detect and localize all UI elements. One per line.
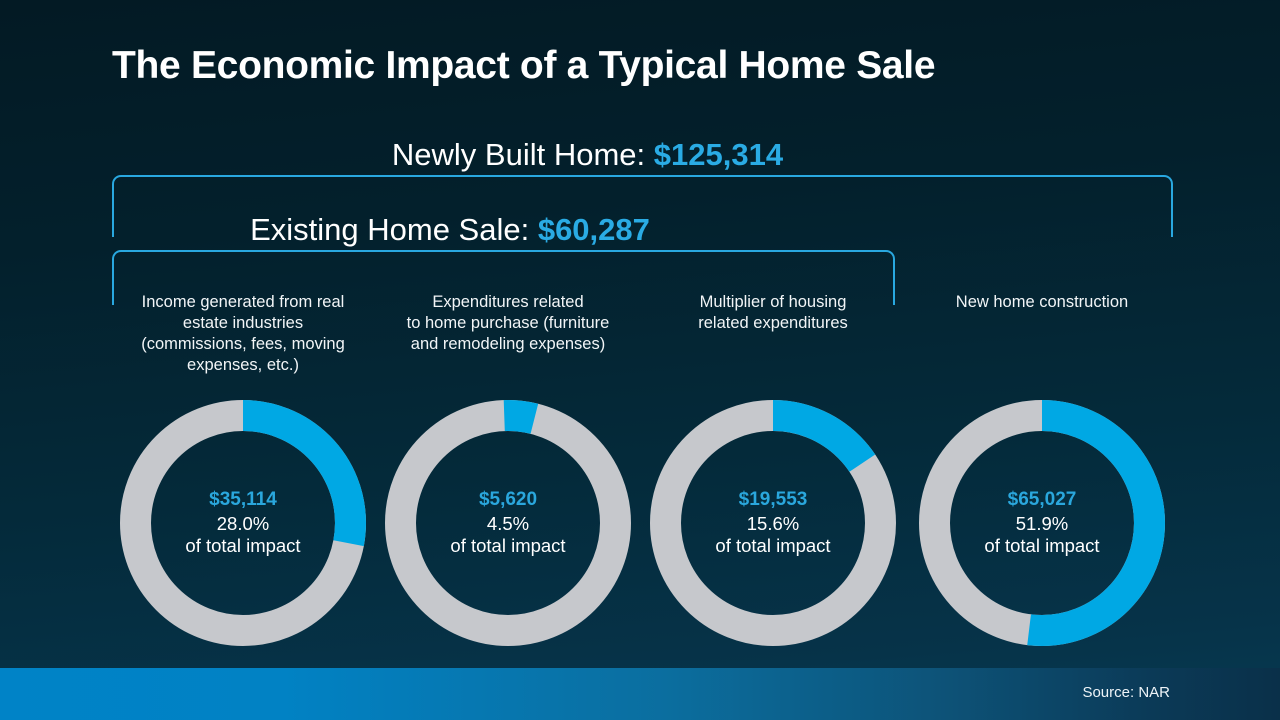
existing-home-sale-label: Existing Home Sale:: [250, 212, 538, 247]
donut-chart-income-real-estate: $35,11428.0%of total impact: [120, 400, 366, 646]
donut-chart-new-home-construction: $65,02751.9%of total impact: [919, 400, 1165, 646]
donut-sublabel: of total impact: [984, 535, 1099, 557]
donut-amount: $19,553: [739, 489, 808, 511]
column-label-multiplier-housing: Multiplier of housingrelated expenditure…: [648, 292, 898, 334]
donut-percent: 51.9%: [1016, 513, 1068, 535]
donut-label-0: Income generated from realestate industr…: [118, 292, 368, 376]
label-line: estate industries: [183, 314, 303, 332]
donut-label-2: Multiplier of housingrelated expenditure…: [648, 292, 898, 334]
label-line: expenses, etc.): [187, 356, 299, 374]
donut-sublabel: of total impact: [185, 535, 300, 557]
donut-chart-expenditures-home-purchase: $5,6204.5%of total impact: [385, 400, 631, 646]
infographic-slide: The Economic Impact of a Typical Home Sa…: [0, 0, 1280, 720]
label-line: to home purchase (furniture: [407, 314, 610, 332]
donut-center-labels-income-real-estate: $35,11428.0%of total impact: [120, 400, 366, 646]
donut-amount: $5,620: [479, 489, 537, 511]
donut-center-labels-expenditures-home-purchase: $5,6204.5%of total impact: [385, 400, 631, 646]
donut-percent: 4.5%: [487, 513, 529, 535]
donut-label-1: Expenditures relatedto home purchase (fu…: [383, 292, 633, 355]
label-line: related expenditures: [698, 314, 848, 332]
label-line: New home construction: [956, 293, 1128, 311]
existing-home-sale-header: Existing Home Sale: $60,287: [0, 212, 900, 248]
donut-chart-multiplier-housing: $19,55315.6%of total impact: [650, 400, 896, 646]
existing-home-sale-value: $60,287: [538, 212, 650, 247]
label-line: Multiplier of housing: [700, 293, 847, 311]
donut-label-3: New home construction: [917, 292, 1167, 313]
label-line: (commissions, fees, moving: [141, 335, 345, 353]
donut-amount: $65,027: [1008, 489, 1077, 511]
donut-amount: $35,114: [209, 489, 277, 511]
donut-sublabel: of total impact: [450, 535, 565, 557]
newly-built-home-label: Newly Built Home:: [392, 137, 654, 172]
donut-center-labels-new-home-construction: $65,02751.9%of total impact: [919, 400, 1165, 646]
footer-bar: Source: NAR: [0, 668, 1280, 720]
column-label-income-real-estate: Income generated from realestate industr…: [118, 292, 368, 376]
newly-built-home-header: Newly Built Home: $125,314: [0, 137, 1175, 173]
label-line: and remodeling expenses): [411, 335, 605, 353]
donut-percent: 28.0%: [217, 513, 269, 535]
newly-built-home-value: $125,314: [654, 137, 783, 172]
label-line: Income generated from real: [142, 293, 345, 311]
page-title: The Economic Impact of a Typical Home Sa…: [112, 44, 935, 88]
label-line: Expenditures related: [432, 293, 583, 311]
donut-percent: 15.6%: [747, 513, 799, 535]
donut-center-labels-multiplier-housing: $19,55315.6%of total impact: [650, 400, 896, 646]
source-attribution: Source: NAR: [1082, 684, 1170, 701]
donut-sublabel: of total impact: [715, 535, 830, 557]
column-label-expenditures-home-purchase: Expenditures relatedto home purchase (fu…: [383, 292, 633, 355]
column-label-new-home-construction: New home construction: [917, 292, 1167, 313]
